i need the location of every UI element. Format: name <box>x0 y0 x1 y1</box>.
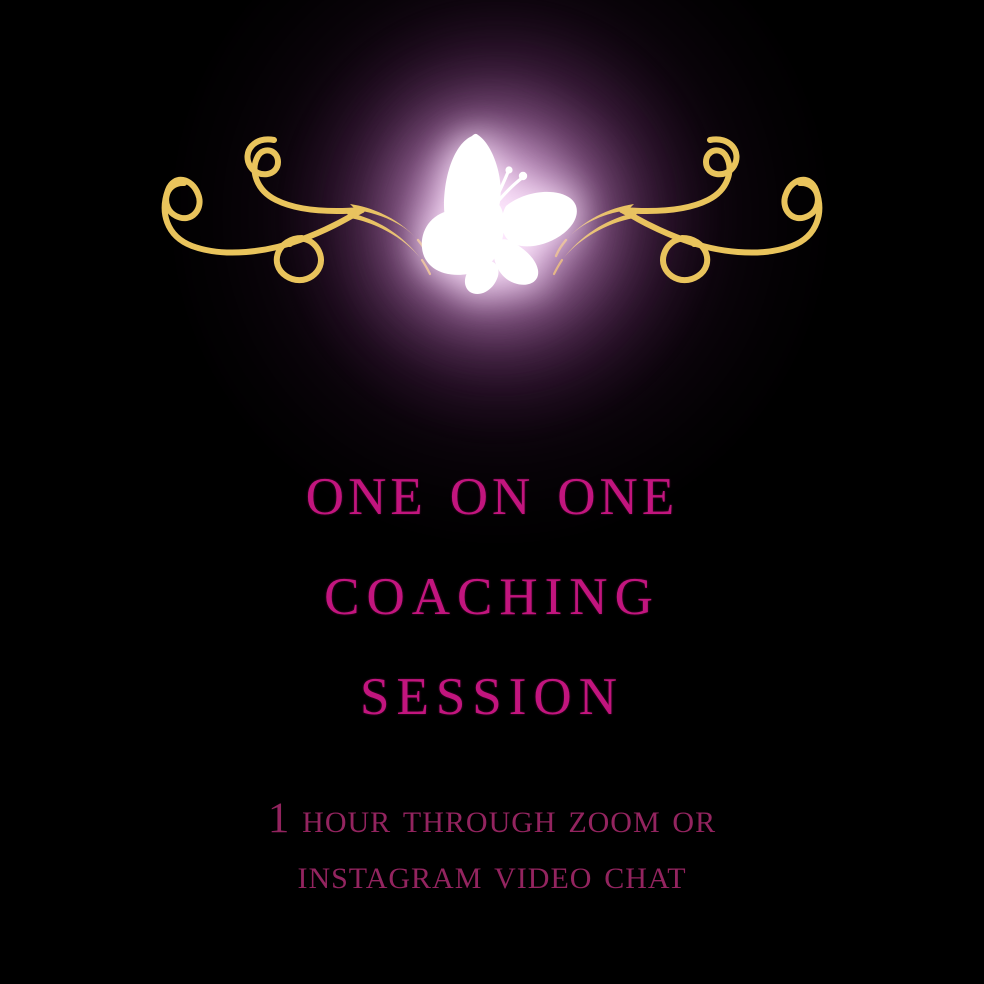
promo-card: One on One coaching session 1 hour throu… <box>0 0 984 984</box>
page-subtitle: 1 hour through zoom or Instagram video c… <box>0 791 984 903</box>
headline-line-2: coaching <box>0 539 984 639</box>
headline-line-3: session <box>0 639 984 739</box>
subhead-line-2: Instagram video chat <box>0 847 984 903</box>
left-flourish-swirl <box>150 120 450 300</box>
page-title: One on One coaching session <box>0 439 984 739</box>
headline-line-1: One on One <box>0 439 984 539</box>
subhead-line-1: 1 hour through zoom or <box>0 791 984 847</box>
butterfly-icon <box>410 128 590 298</box>
